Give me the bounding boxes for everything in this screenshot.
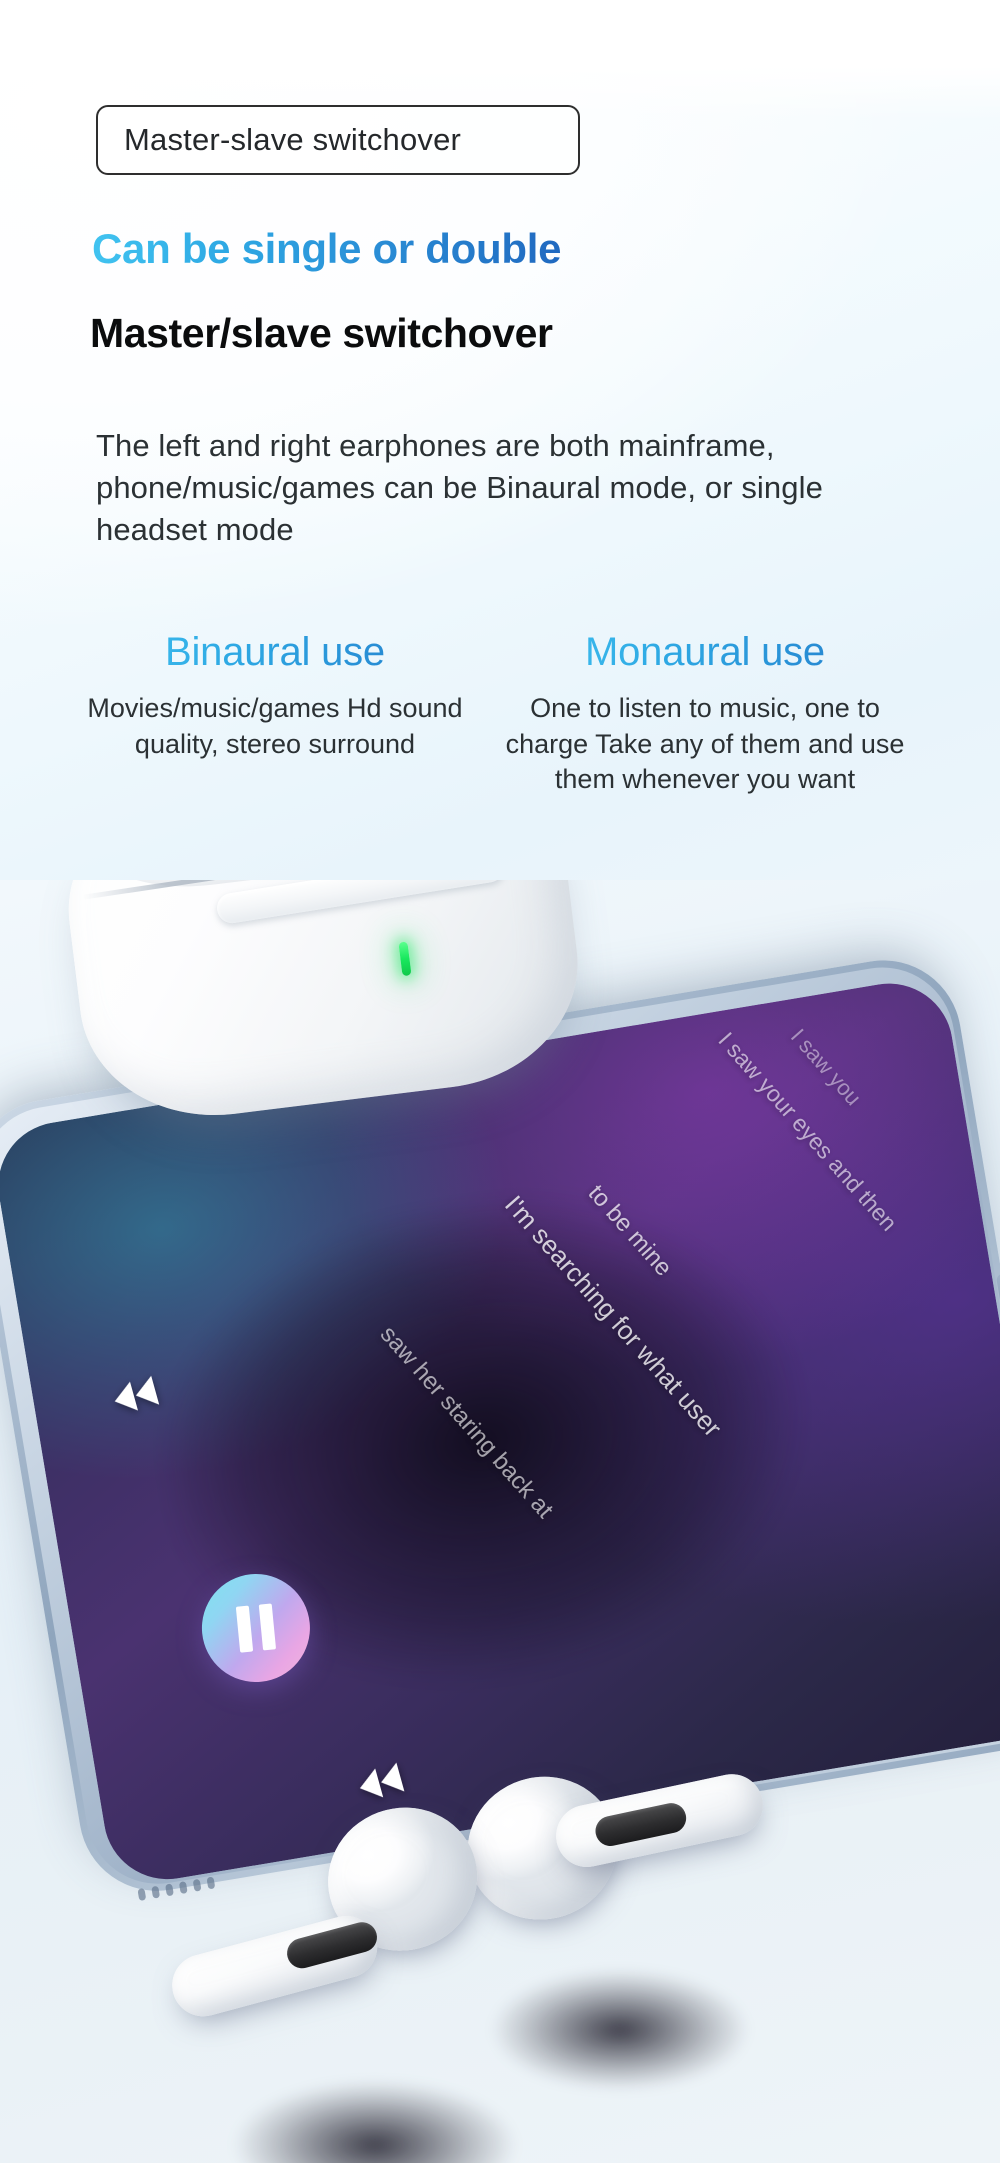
subheading: Master/slave switchover bbox=[90, 310, 553, 357]
pause-bar-left bbox=[236, 1606, 253, 1653]
earbud-left-reflection bbox=[210, 2070, 540, 2163]
feature-heading-binaural: Binaural use bbox=[60, 630, 490, 675]
section-badge: Master-slave switchover bbox=[96, 105, 580, 175]
pause-bar-right bbox=[259, 1603, 276, 1650]
text-panel: Master-slave switchover Can be single or… bbox=[0, 0, 1000, 930]
feature-column-monaural: Monaural use One to listen to music, one… bbox=[490, 630, 920, 798]
feature-heading-monaural: Monaural use bbox=[490, 630, 920, 675]
product-feature-page: Master-slave switchover Can be single or… bbox=[0, 0, 1000, 2163]
description-paragraph: The left and right earphones are both ma… bbox=[96, 425, 886, 551]
lyric-line: to be mine bbox=[582, 1180, 677, 1282]
lyric-line: I saw you bbox=[785, 1024, 866, 1111]
section-badge-label: Master-slave switchover bbox=[124, 122, 461, 158]
charging-case-body bbox=[55, 880, 591, 1131]
feature-body-binaural: Movies/music/games Hd sound quality, ste… bbox=[60, 691, 490, 762]
feature-columns: Binaural use Movies/music/games Hd sound… bbox=[60, 630, 950, 798]
headline: Can be single or double bbox=[92, 225, 561, 273]
earbud-right-reflection bbox=[470, 1960, 770, 2100]
feature-body-monaural: One to listen to music, one to charge Ta… bbox=[490, 691, 920, 798]
feature-column-binaural: Binaural use Movies/music/games Hd sound… bbox=[60, 630, 490, 798]
product-photo: I'm searching for what user to be mine I… bbox=[0, 880, 1000, 2163]
lyric-line: saw her staring back at bbox=[374, 1321, 559, 1524]
